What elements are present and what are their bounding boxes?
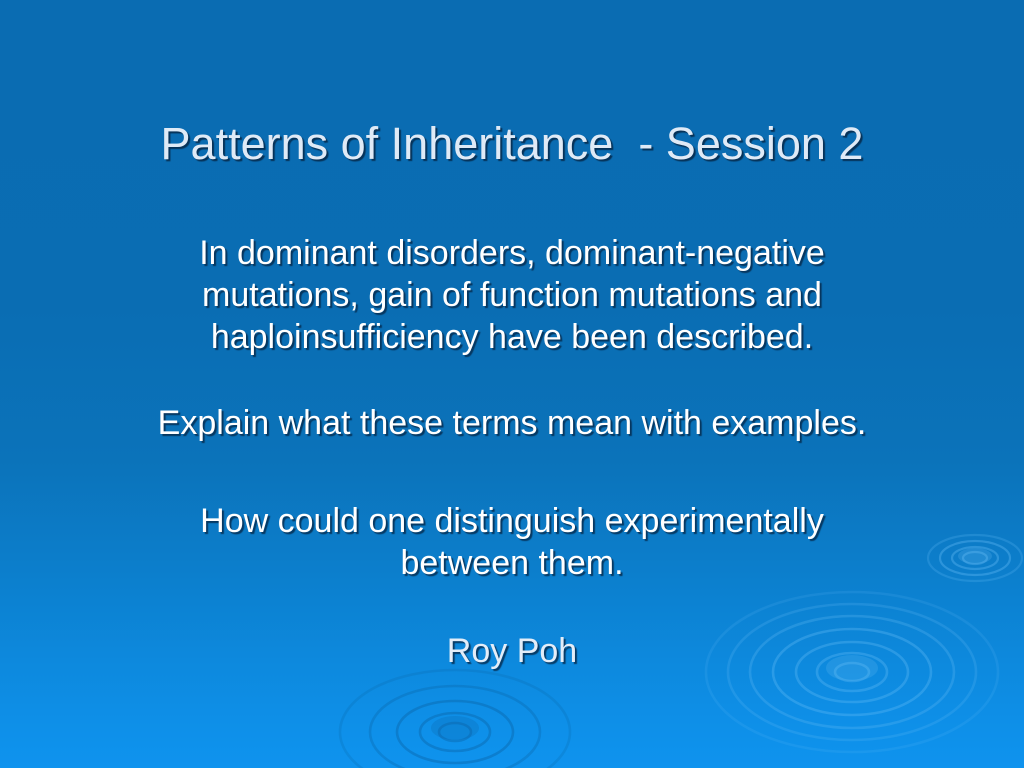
paragraph-explain-terms: Explain what these terms mean with examp… (0, 402, 1024, 444)
paragraph-distinguish-experimentally: How could one distinguish experimentally… (0, 500, 1024, 584)
paragraph-line: between them. (0, 542, 1024, 584)
presentation-slide: Patterns of Inheritance - Session 2 In d… (0, 0, 1024, 768)
paragraph-line: In dominant disorders, dominant-negative (0, 232, 1024, 274)
slide-content: Patterns of Inheritance - Session 2 In d… (0, 0, 1024, 768)
paragraph-line: Explain what these terms mean with examp… (0, 402, 1024, 444)
paragraph-line: mutations, gain of function mutations an… (0, 274, 1024, 316)
paragraph-line: How could one distinguish experimentally (0, 500, 1024, 542)
paragraph-line: haploinsufficiency have been described. (0, 316, 1024, 358)
slide-title: Patterns of Inheritance - Session 2 (0, 118, 1024, 170)
paragraph-dominant-disorders: In dominant disorders, dominant-negative… (0, 232, 1024, 358)
slide-author: Roy Poh (0, 630, 1024, 672)
